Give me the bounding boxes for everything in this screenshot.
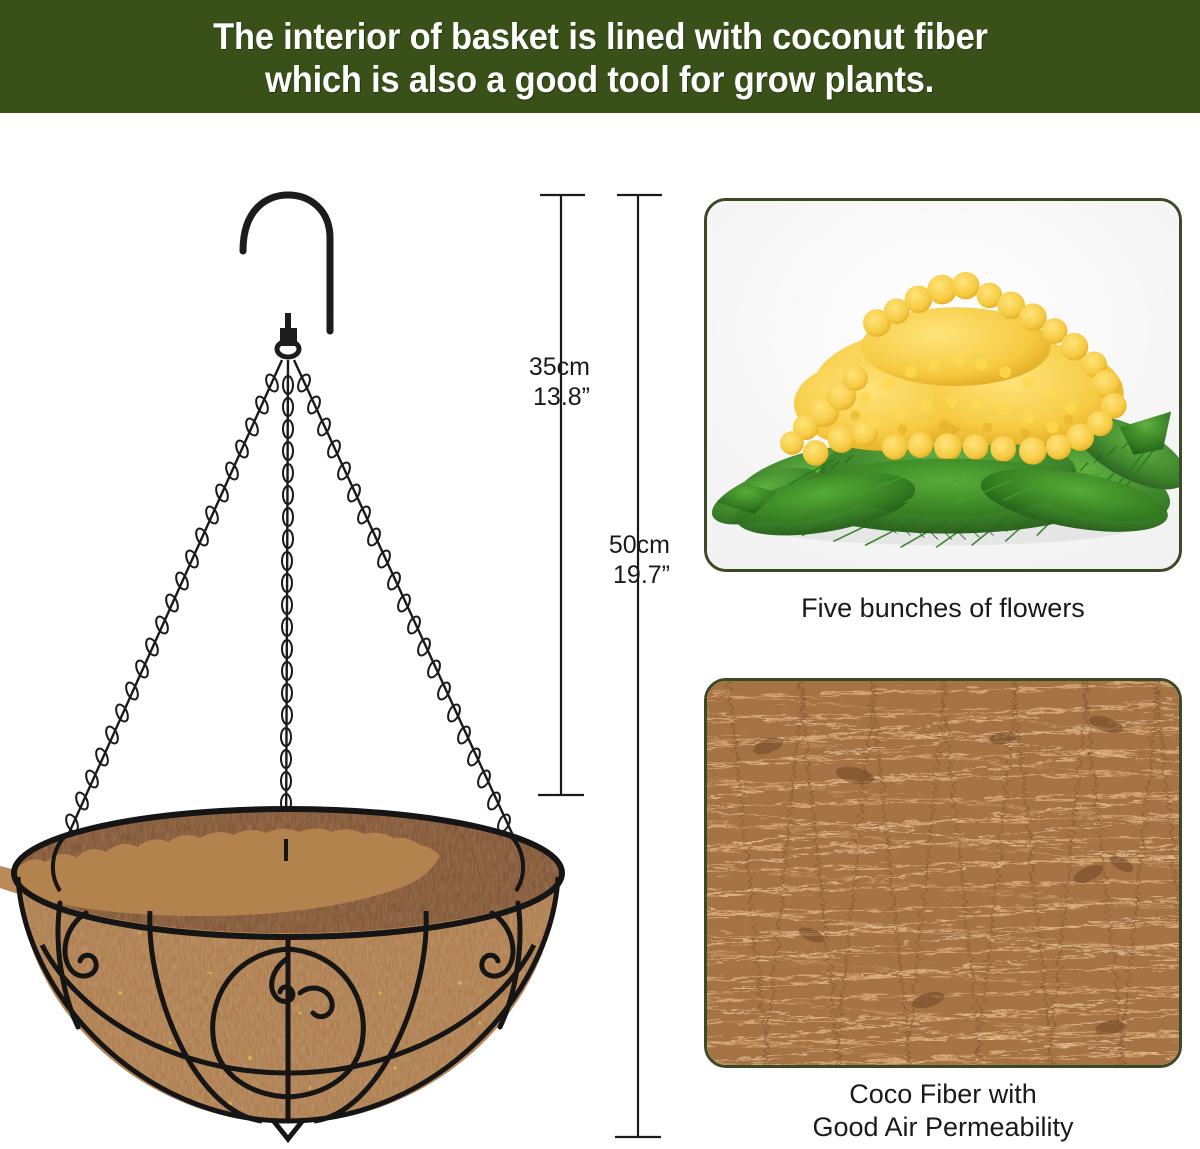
hanging-basket-illustration bbox=[0, 113, 690, 1149]
dim-50-inch: 19.7” bbox=[505, 560, 670, 590]
banner-line-2: which is also a good tool for grow plant… bbox=[266, 58, 935, 101]
hook-swivel bbox=[277, 313, 299, 357]
dimension-label-35cm: 35cm 13.8” bbox=[430, 352, 590, 412]
flowers-photo bbox=[707, 201, 1179, 569]
flowers-caption-text: Five bunches of flowers bbox=[801, 593, 1085, 623]
banner-line-1: The interior of basket is lined with coc… bbox=[213, 15, 988, 58]
flowers-photo-frame bbox=[704, 198, 1182, 572]
coco-fiber-photo-frame bbox=[704, 678, 1182, 1068]
coco-fiber-photo bbox=[707, 681, 1179, 1065]
dim-35-cm: 35cm bbox=[430, 352, 590, 382]
coco-fiber-caption: Coco Fiber with Good Air Permeability bbox=[704, 1078, 1182, 1144]
flowers-caption: Five bunches of flowers bbox=[704, 592, 1182, 625]
coco-caption-line-1: Coco Fiber with bbox=[704, 1078, 1182, 1111]
dimension-label-50cm: 50cm 19.7” bbox=[505, 530, 670, 590]
product-image-area bbox=[0, 113, 690, 1149]
infographic-canvas: The interior of basket is lined with coc… bbox=[0, 0, 1200, 1149]
hook-icon bbox=[243, 195, 330, 331]
coco-caption-line-2: Good Air Permeability bbox=[704, 1111, 1182, 1144]
dim-35-inch: 13.8” bbox=[430, 382, 590, 412]
header-banner: The interior of basket is lined with coc… bbox=[0, 0, 1200, 113]
basket-body bbox=[0, 803, 600, 1143]
dim-50-cm: 50cm bbox=[505, 530, 670, 560]
